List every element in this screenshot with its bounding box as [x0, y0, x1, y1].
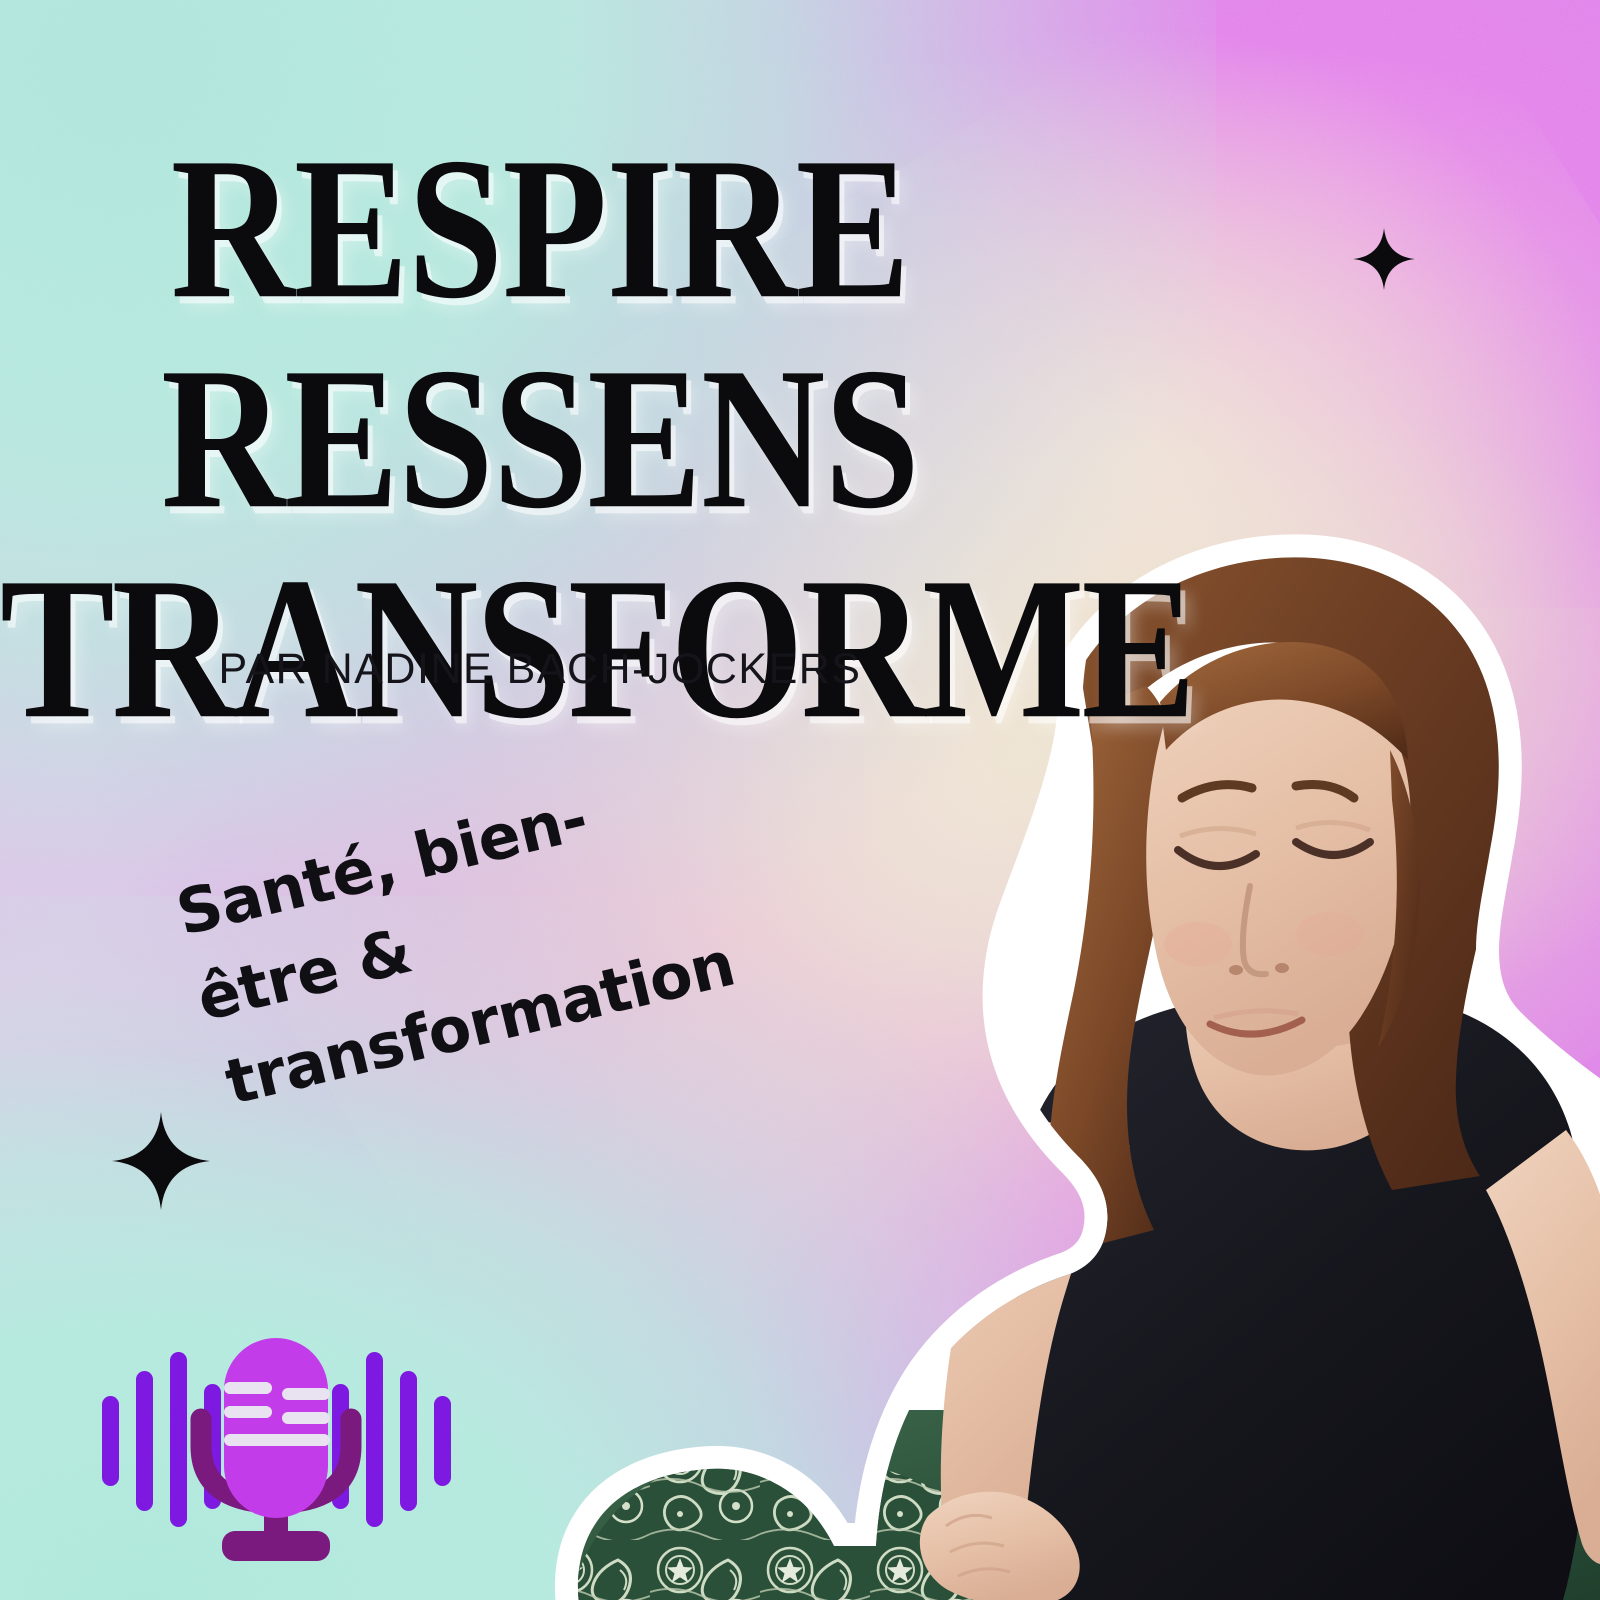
microphone-base [222, 1531, 330, 1561]
title-line-2: RESSENS [0, 346, 1080, 533]
cover-byline: PAR NADINE BACH-JOCKERS [0, 645, 1080, 694]
microphone-capsule [224, 1338, 330, 1518]
cover-title: RESPIRE RESSENS TRANSFORME [0, 150, 1080, 729]
sparkle-icon [112, 1112, 210, 1210]
microphone-podcast-logo [96, 1296, 456, 1586]
title-line-1: RESPIRE [0, 136, 1080, 323]
podcast-cover: RESPIRE RESSENS TRANSFORME PAR NADINE BA… [0, 0, 1600, 1600]
sparkle-icon [1353, 228, 1415, 290]
